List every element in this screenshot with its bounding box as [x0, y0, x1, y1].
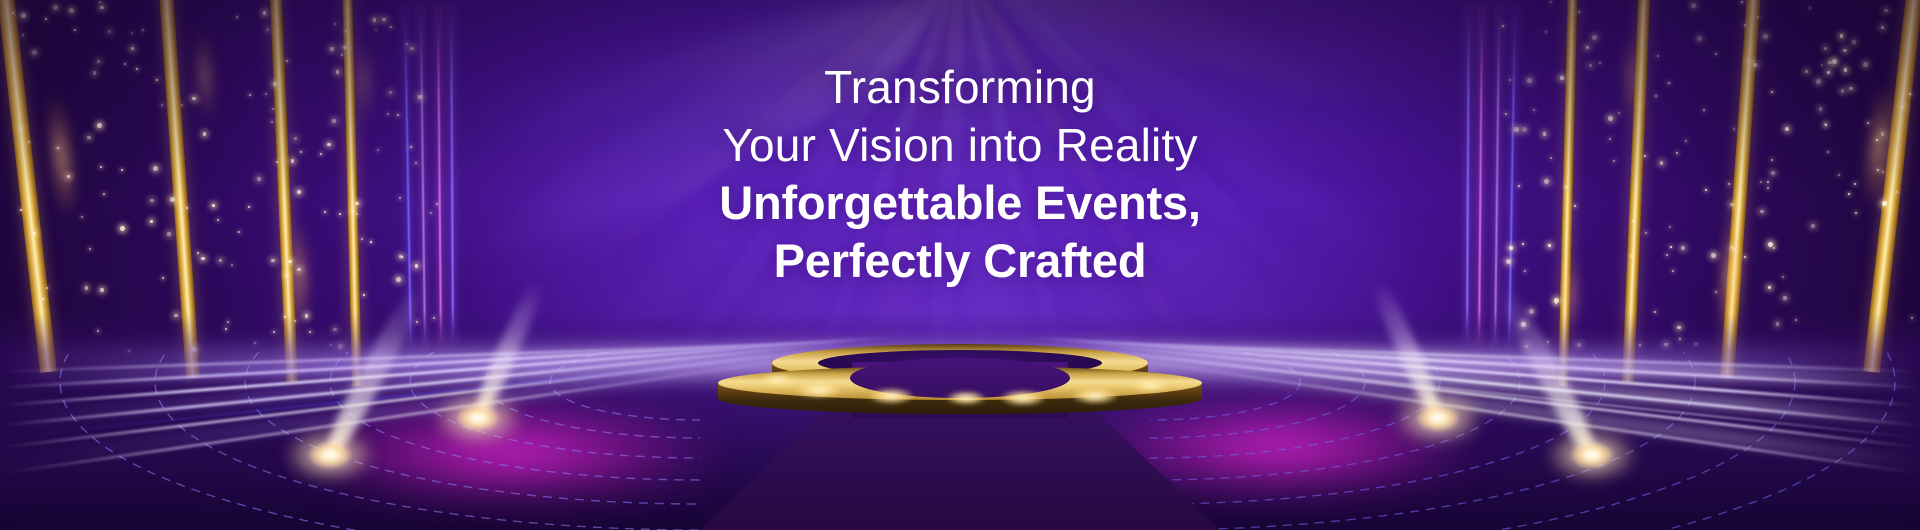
star-sparkle: [45, 18, 47, 20]
star-sparkle: [1824, 47, 1827, 50]
star-sparkle: [1881, 26, 1884, 29]
star-sparkle: [1843, 49, 1846, 52]
podium-rim-light: [760, 374, 796, 386]
headline-line-4: Perfectly Crafted: [0, 232, 1920, 290]
star-sparkle: [53, 5, 58, 10]
star-sparkle: [266, 28, 269, 31]
star-sparkle: [236, 16, 238, 18]
star-sparkle: [32, 50, 37, 55]
headline-line-2: Your Vision into Reality: [0, 116, 1920, 174]
star-sparkle: [1586, 46, 1589, 49]
star-sparkle: [131, 32, 133, 34]
star-sparkle: [99, 1, 101, 3]
star-sparkle: [42, 298, 44, 300]
podium-rim-light: [1130, 378, 1170, 392]
star-sparkle: [142, 29, 144, 31]
star-sparkle: [1840, 34, 1843, 37]
star-sparkle: [1741, 1, 1743, 3]
podium-rim-light: [796, 382, 842, 398]
star-sparkle: [345, 30, 347, 32]
star-sparkle: [1783, 296, 1786, 299]
podium-rim-light: [868, 388, 914, 404]
star-sparkle: [406, 43, 408, 45]
podium-edge-lights: [700, 344, 1220, 412]
star-sparkle: [1592, 35, 1597, 40]
star-sparkle: [131, 47, 134, 50]
star-sparkle: [1545, 31, 1547, 33]
star-sparkle: [1757, 16, 1759, 18]
event-hero-banner: Transforming Your Vision into Reality Un…: [0, 0, 1920, 530]
star-sparkle: [343, 46, 346, 49]
star-sparkle: [1715, 291, 1717, 293]
star-sparkle: [341, 54, 343, 56]
star-sparkle: [1578, 11, 1580, 13]
podium-rim-light: [1000, 390, 1046, 406]
star-sparkle: [108, 30, 111, 33]
headline-line-1: Transforming: [0, 58, 1920, 116]
star-sparkle: [375, 29, 377, 31]
star-sparkle: [1715, 53, 1717, 55]
star-sparkle: [100, 6, 103, 9]
gold-podium: [700, 344, 1220, 412]
star-sparkle: [21, 13, 26, 18]
star-sparkle: [1657, 55, 1659, 57]
star-sparkle: [1554, 298, 1559, 303]
headline-block: Transforming Your Vision into Reality Un…: [0, 58, 1920, 290]
star-sparkle: [363, 294, 365, 296]
star-sparkle: [382, 18, 385, 21]
star-sparkle: [330, 47, 333, 50]
star-sparkle: [263, 11, 266, 14]
star-sparkle: [1691, 3, 1696, 8]
star-sparkle: [1884, 9, 1887, 12]
star-sparkle: [1763, 34, 1768, 39]
star-sparkle: [1697, 36, 1702, 41]
star-sparkle: [1809, 7, 1811, 9]
star-sparkle: [74, 29, 76, 31]
star-sparkle: [1502, 25, 1504, 27]
star-sparkle: [373, 18, 376, 21]
star-sparkle: [390, 26, 392, 28]
star-sparkle: [1550, 1, 1552, 3]
star-sparkle: [69, 8, 74, 13]
star-sparkle: [410, 47, 413, 50]
star-sparkle: [1555, 302, 1557, 304]
star-sparkle: [12, 12, 14, 14]
star-sparkle: [1852, 40, 1855, 43]
star-sparkle: [346, 10, 348, 12]
star-sparkle: [22, 34, 24, 36]
star-sparkle: [1744, 24, 1746, 26]
podium-rim-light: [946, 391, 986, 405]
podium-rim-light: [1072, 388, 1118, 404]
headline-line-3: Unforgettable Events,: [0, 174, 1920, 232]
star-sparkle: [334, 23, 336, 25]
